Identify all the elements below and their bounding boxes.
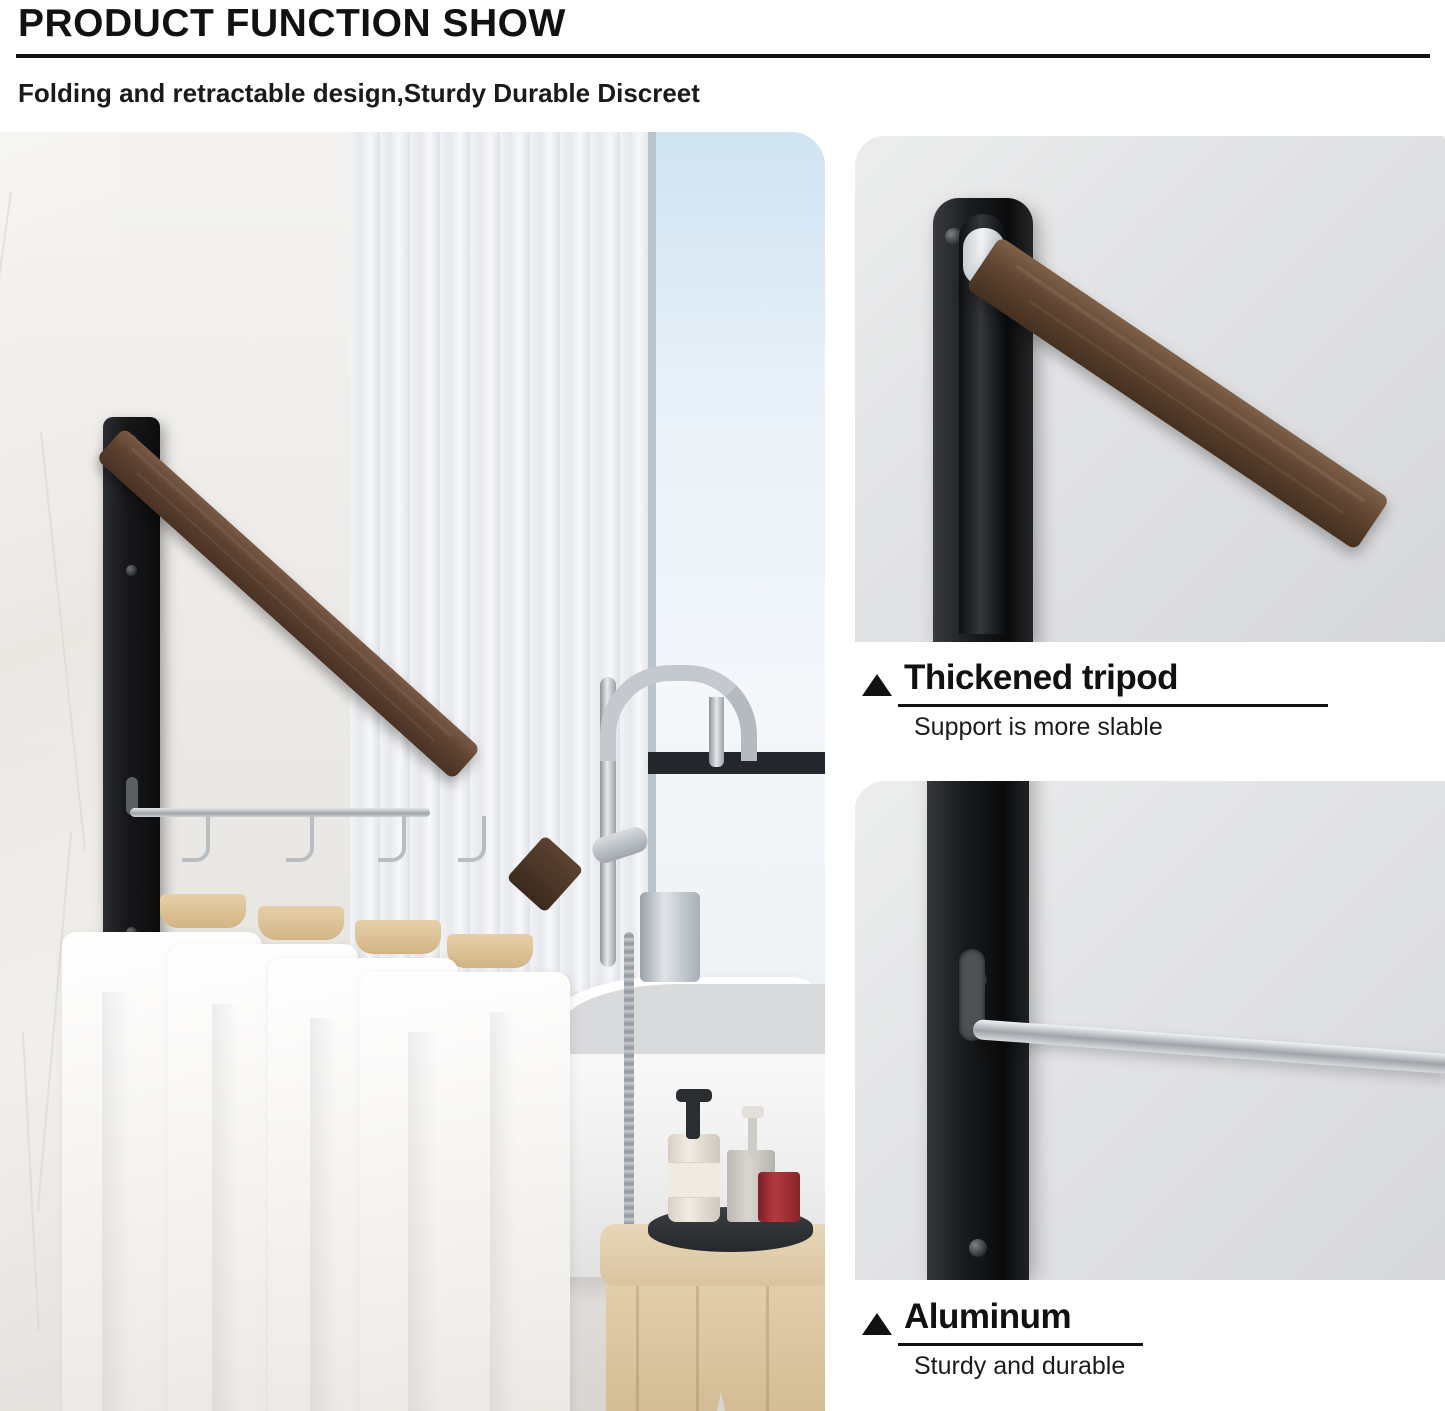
caption-thickened-tripod: Thickened tripod Support is more slable	[862, 658, 1442, 704]
faucet-base	[640, 892, 700, 982]
caption-underline-2	[898, 1343, 1143, 1346]
dispenser-pump-head	[676, 1089, 712, 1102]
caption-aluminum: Aluminum Sturdy and durable	[862, 1297, 1442, 1343]
bottle-label	[668, 1162, 720, 1198]
wooden-hanger-2	[258, 906, 344, 940]
wooden-hanger-3	[355, 920, 441, 954]
bathtub-basin	[560, 984, 825, 1054]
page-title: PRODUCT FUNCTION SHOW	[18, 2, 566, 46]
triangle-bullet-icon-2	[862, 1313, 892, 1335]
window-frame	[648, 132, 656, 1012]
triangle-bullet-icon	[862, 674, 892, 696]
wooden-hanger-4	[447, 934, 533, 968]
header-divider	[16, 54, 1430, 58]
caption-title-1: Thickened tripod	[904, 658, 1178, 698]
faucet-spout	[709, 697, 724, 767]
caption-subtitle-2: Sturdy and durable	[914, 1352, 1125, 1381]
hanger-hook-4	[458, 816, 486, 862]
wooden-hanger-1	[160, 894, 246, 928]
caption-underline-1	[898, 704, 1328, 707]
hanger-hook-3	[378, 816, 406, 862]
page-subtitle: Folding and retractable design,Sturdy Du…	[18, 78, 700, 109]
hanger-hook-1	[182, 816, 210, 862]
brush-handle	[748, 1112, 757, 1157]
caption-subtitle-1: Support is more slable	[914, 713, 1163, 742]
detail-photo-bracket	[855, 136, 1445, 642]
window-view	[648, 132, 825, 1012]
brush-head	[742, 1106, 764, 1118]
red-candle	[758, 1172, 800, 1222]
hanger-hook-2	[286, 816, 314, 862]
page-header: PRODUCT FUNCTION SHOW Folding and retrac…	[0, 0, 1445, 122]
white-shirt-4	[360, 972, 570, 1411]
main-product-photo	[0, 132, 825, 1411]
detail-photo-rod-slot	[855, 781, 1445, 1280]
caption-title-2: Aluminum	[904, 1297, 1071, 1337]
shower-hose	[624, 932, 634, 1232]
